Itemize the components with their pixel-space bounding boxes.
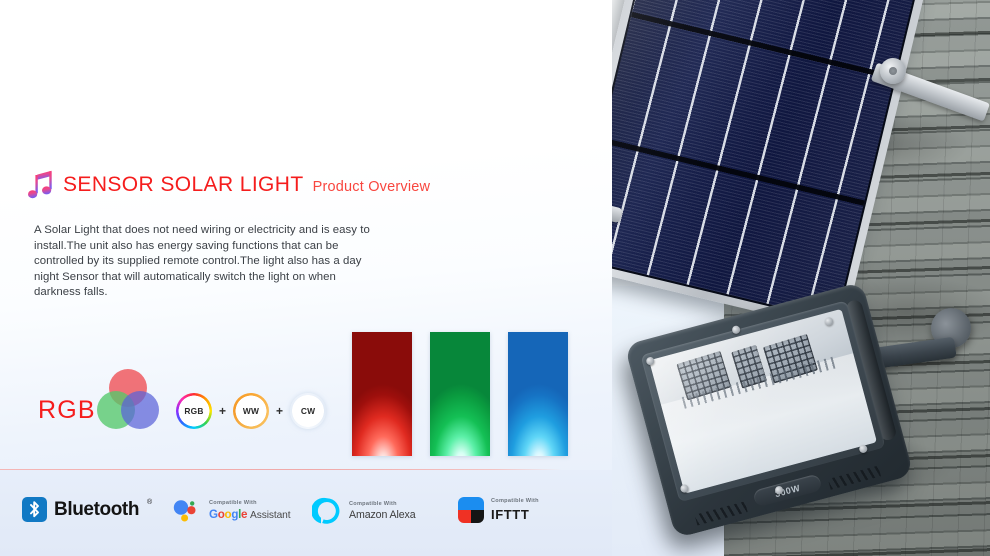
badge-rgb-label: RGB <box>184 406 203 416</box>
amazon-alexa-text: Compatible With Amazon Alexa <box>349 502 416 521</box>
amazon-alexa-icon <box>312 496 342 526</box>
bluetooth-icon <box>22 497 47 522</box>
floodlight-bezel <box>640 300 885 502</box>
solar-panel-hinge <box>880 58 906 84</box>
badge-google-assistant: Compatible With Google Assistant <box>172 498 290 524</box>
compatible-with-label: Compatible With <box>491 499 539 505</box>
section-divider <box>0 469 562 470</box>
ifttt-text: Compatible With IFTTT <box>491 499 539 520</box>
plus-separator: + <box>217 404 228 418</box>
green-swatch <box>430 332 490 456</box>
blue-swatch <box>508 332 568 456</box>
bluetooth-wordmark: Bluetooth <box>54 499 139 521</box>
plus-separator: + <box>274 404 285 418</box>
badge-ifttt: Compatible With IFTTT <box>458 497 539 523</box>
amazon-alexa-wordmark: Amazon Alexa <box>349 510 416 521</box>
badge-amazon-alexa: Compatible With Amazon Alexa <box>312 496 416 526</box>
badge-ww[interactable]: WW <box>233 393 269 429</box>
badge-ww-label: WW <box>243 406 259 416</box>
badge-cw[interactable]: CW <box>290 393 326 429</box>
rgb-venn-diagram <box>96 368 160 432</box>
description-text: A Solar Light that does not need wiring … <box>34 223 379 301</box>
compatible-with-label: Compatible With <box>209 501 290 507</box>
music-note-icon <box>28 170 54 200</box>
ifttt-icon <box>458 497 484 523</box>
compatible-with-label: Compatible With <box>349 502 416 508</box>
product-photo: 300W <box>612 0 990 556</box>
rgb-ww-cw-badges: RGB + WW + CW <box>176 393 326 429</box>
title-text: SENSOR SOLAR LIGHT <box>63 173 304 197</box>
ifttt-wordmark: IFTTT <box>491 508 539 521</box>
subtitle-text: Product Overview <box>313 179 431 195</box>
rgb-label: RGB <box>38 396 96 425</box>
badge-cw-label: CW <box>301 406 315 416</box>
lens-glare <box>649 309 877 494</box>
floodlight-lens <box>649 309 877 494</box>
page-title: SENSOR SOLAR LIGHT Product Overview <box>28 170 430 200</box>
registered-mark: ® <box>147 499 152 506</box>
google-assistant-wordmark: Google Assistant <box>209 509 290 521</box>
google-assistant-text: Compatible With Google Assistant <box>209 501 290 521</box>
product-overview-banner: 300W SENSO <box>0 0 990 556</box>
color-swatch-group <box>352 332 568 456</box>
badge-rgb[interactable]: RGB <box>176 393 212 429</box>
google-assistant-icon <box>172 498 202 524</box>
compatibility-badges: Bluetooth ® Compatible With Google Assis… <box>0 493 600 539</box>
red-swatch <box>352 332 412 456</box>
badge-bluetooth: Bluetooth ® <box>22 497 151 522</box>
